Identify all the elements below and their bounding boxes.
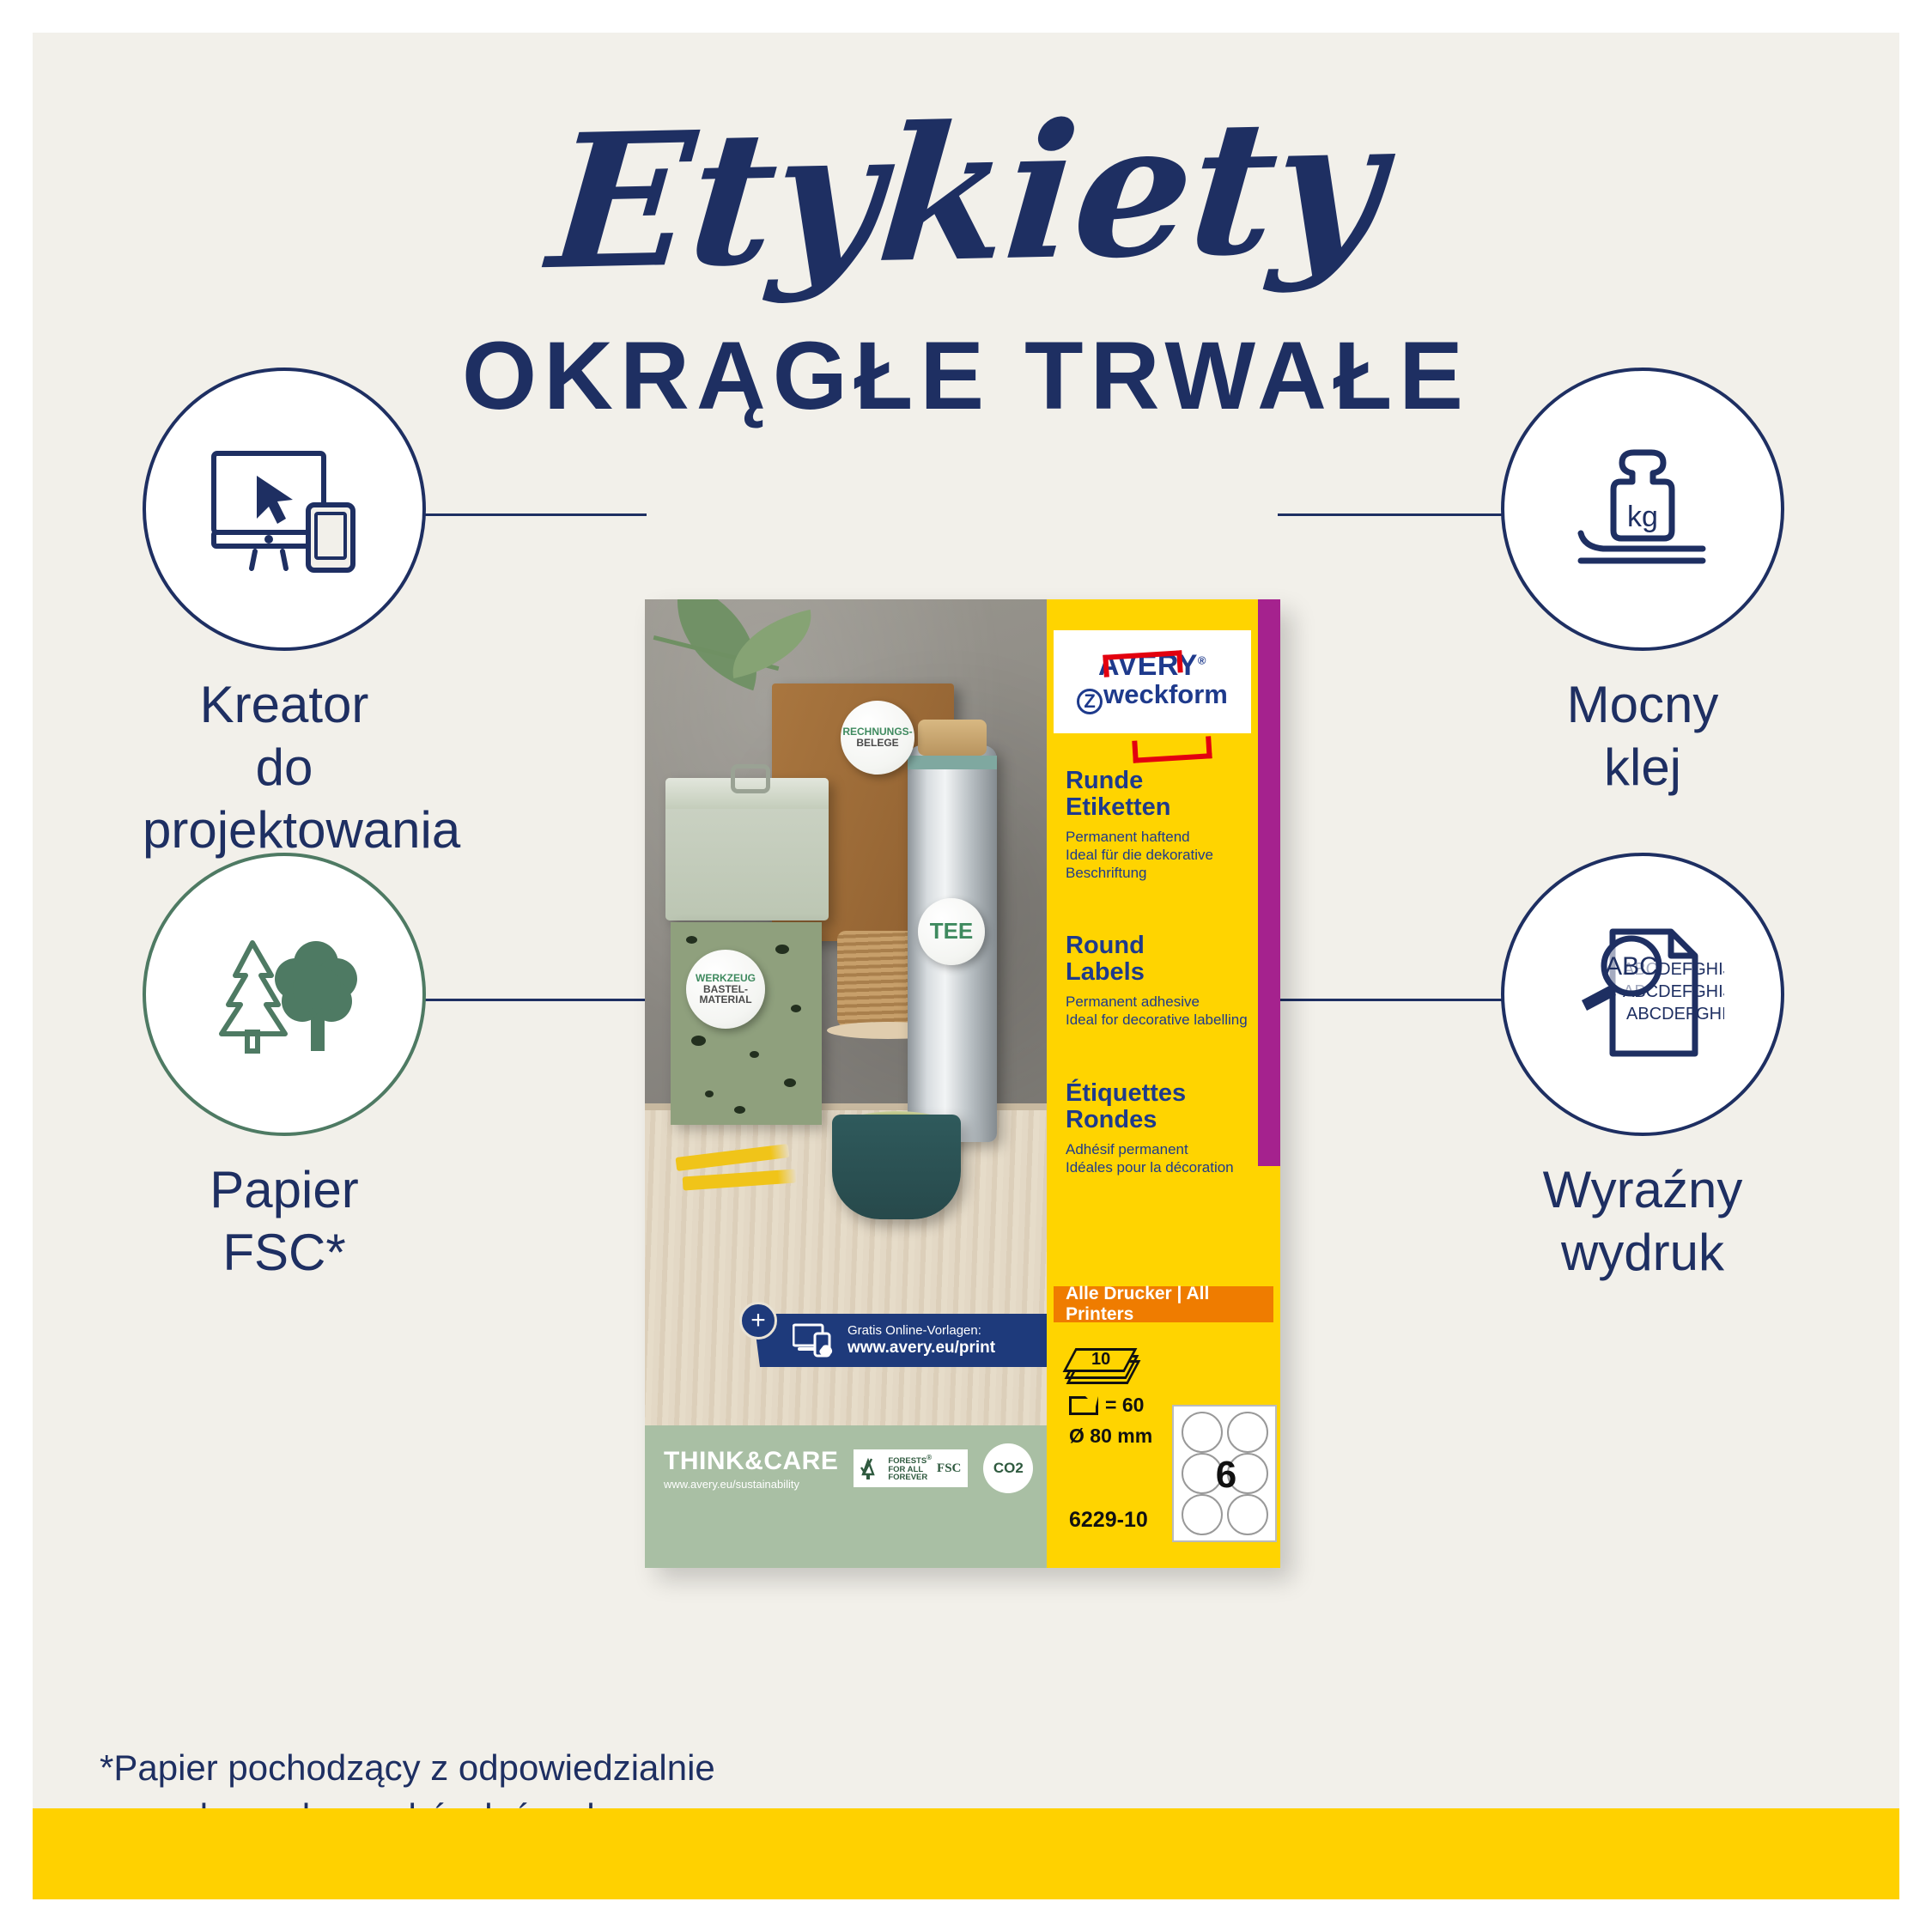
article-number: 6229-10 [1069,1508,1148,1533]
feature-kreator: Kreator do projektowania etykiet [143,368,426,925]
sustainability-strip: THINK&CARE www.avery.eu/sustainability F… [645,1425,1047,1511]
package-block-en: Round Labels Permanent adhesive Ideal fo… [1066,933,1263,1029]
kg-weight-icon: kg [1565,440,1720,578]
labels-per-sheet-count: 6 [1174,1406,1279,1544]
package-block-fr: Étiquettes Rondes Adhésif permanent Idéa… [1066,1080,1263,1176]
logo-bracket-bottom [1132,736,1212,763]
package-specs: 10 = 60 Ø 80 mm [1069,1348,1152,1448]
plus-badge-icon: + [739,1302,777,1340]
online-templates-banner[interactable]: Gratis Online-Vorlagen: www.avery.eu/pri… [753,1314,1047,1367]
package-block-de: Runde Etiketten Permanent haftend Ideal … [1066,768,1263,882]
magnifier-abc-text: ABC [1605,952,1658,981]
photo-sticker-werkzeug: WERKZEUG BASTEL- MATERIAL [686,950,765,1029]
monitor-tablet-hand-icon [793,1323,839,1358]
package-photo: RECHNUNGS- BELEGE WERKZEUG BASTEL- MATER… [645,599,1047,1568]
photo-metal-box-clip [731,764,770,793]
fsc-logo: FORESTS®FOR ALLFOREVER FSC [854,1449,968,1487]
label-total: = 60 [1105,1394,1144,1417]
all-printers-bar: Alle Drucker | All Printers [1054,1286,1273,1322]
label-diameter: Ø 80 mm [1069,1425,1152,1448]
monitor-phone-cursor-icon [207,445,361,574]
diameter-line: Ø 80 mm [1069,1425,1152,1448]
doc-line-3: ABCDEFGHIJKL [1626,1005,1724,1024]
photo-bottle-ring [908,756,997,769]
magnifier-document-icon: ABCDEFGHIJKL ABCDEFGHIJKL ABCDEFGHIJKL A… [1561,921,1724,1067]
sheet-stack-icon: 10 [1069,1348,1139,1386]
photo-bottle-cap [918,720,987,756]
feature-papier-fsc-circle [143,853,426,1136]
fsc-mark: FSC [937,1461,961,1476]
sustainability-url: www.avery.eu/sustainability [664,1478,838,1491]
package-sub-fr: Adhésif permanent Idéales pour la décora… [1066,1140,1263,1177]
label-total-line: = 60 [1069,1394,1152,1417]
bottom-yellow-band [33,1808,1899,1899]
package-sub-de: Permanent haftend Ideal für die dekorati… [1066,828,1263,883]
online-banner-text: Gratis Online-Vorlagen: www.avery.eu/pri… [848,1323,995,1357]
z-circle-icon: Z [1077,689,1103,714]
feature-mocny-klej: kg Mocny klej [1501,368,1784,799]
sticker-rechnungsbelege-line2: BELEGE [856,737,898,749]
fsc-tree-icon [860,1455,883,1481]
feature-papier-fsc-label: Papier FSC* [143,1158,426,1284]
label-tag-icon [1069,1396,1098,1415]
fsc-claim: FORESTS®FOR ALLFOREVER [888,1455,932,1482]
think-care-logo: THINK&CARE [664,1447,838,1476]
online-banner-line1: Gratis Online-Vorlagen: [848,1323,981,1338]
package-heading-de: Runde Etiketten [1066,768,1263,822]
photo-sticker-rechnungsbelege: RECHNUNGS- BELEGE [841,701,914,775]
online-banner-line2: www.avery.eu/print [848,1339,995,1358]
package-info-panel: AVERY® Zweckform Runde Etiketten Permane… [1047,599,1280,1568]
feature-mocny-klej-label: Mocny klej [1501,673,1784,799]
trees-icon [203,926,366,1063]
poster-canvas: Etykiety OKRĄGŁE TRWAŁE Kreator do proje… [33,33,1899,1899]
page-title-script: Etykiety [33,82,1899,305]
avery-zweckform-logo: AVERY® Zweckform [1054,630,1251,733]
package-sub-en: Permanent adhesive Ideal for decorative … [1066,993,1263,1030]
sticker-werkzeug-line3: MATERIAL [699,993,751,1005]
think-care-block: THINK&CARE www.avery.eu/sustainability [664,1447,838,1491]
sticker-tee-line1: TEE [930,920,974,943]
sheet-count: 10 [1091,1350,1110,1370]
zweckform-wordmark: Zweckform [1077,679,1228,714]
feature-mocny-klej-circle: kg [1501,368,1784,651]
photo-tea-cup [832,1115,961,1219]
feature-kreator-circle [143,368,426,651]
photo-speckled-container [671,922,822,1125]
package-heading-en: Round Labels [1066,933,1263,987]
kg-weight-text: kg [1627,501,1658,533]
feature-wyrazny-wydruk-label: Wyraźny wydruk [1501,1158,1784,1284]
feature-papier-fsc: Papier FSC* [143,853,426,1284]
package-heading-fr: Étiquettes Rondes [1066,1080,1263,1134]
photo-sticker-tee: TEE [918,898,985,965]
co2-neutral-badge: CO2 [983,1443,1033,1493]
labels-per-sheet-diagram: 6 [1172,1405,1277,1542]
feature-wyrazny-wydruk: ABCDEFGHIJKL ABCDEFGHIJKL ABCDEFGHIJKL A… [1501,853,1784,1284]
product-package: RECHNUNGS- BELEGE WERKZEUG BASTEL- MATER… [645,599,1280,1568]
feature-wyrazny-wydruk-circle: ABCDEFGHIJKL ABCDEFGHIJKL ABCDEFGHIJKL A… [1501,853,1784,1136]
